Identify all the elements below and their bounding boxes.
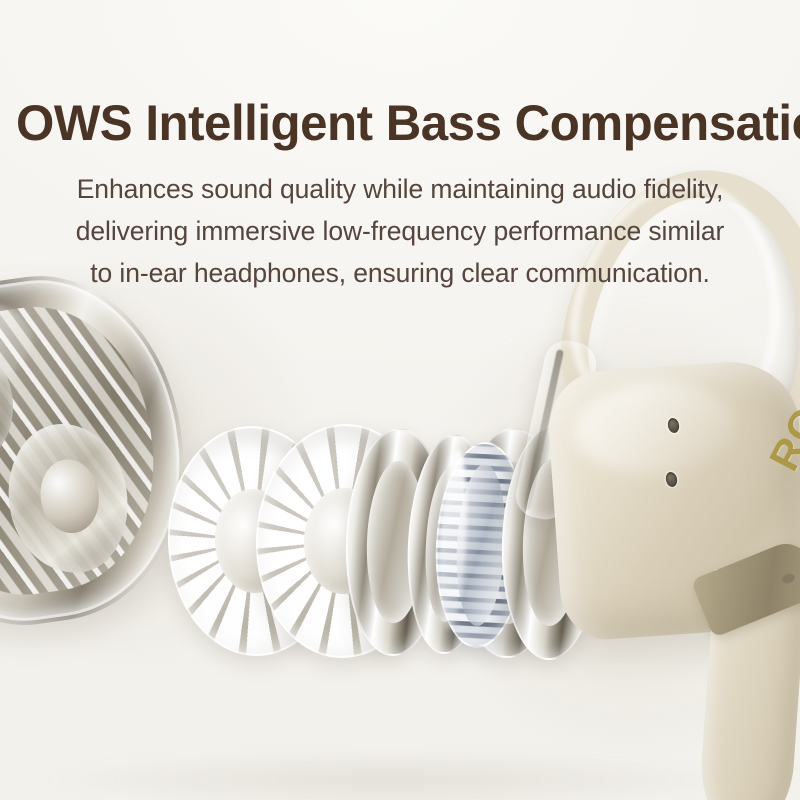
subtitle-line-2: delivering immersive low-frequency perfo… bbox=[0, 210, 800, 252]
page-subtitle: Enhances sound quality while maintaining… bbox=[0, 168, 800, 294]
subtitle-line-1: Enhances sound quality while maintaining… bbox=[0, 168, 800, 210]
subtitle-line-3: to in-ear headphones, ensuring clear com… bbox=[0, 252, 800, 294]
banner-stage: ROC OWS Intelligent Bass Compensation En… bbox=[0, 0, 800, 800]
product-image: ROC bbox=[0, 230, 800, 800]
page-title: OWS Intelligent Bass Compensation bbox=[16, 96, 780, 150]
